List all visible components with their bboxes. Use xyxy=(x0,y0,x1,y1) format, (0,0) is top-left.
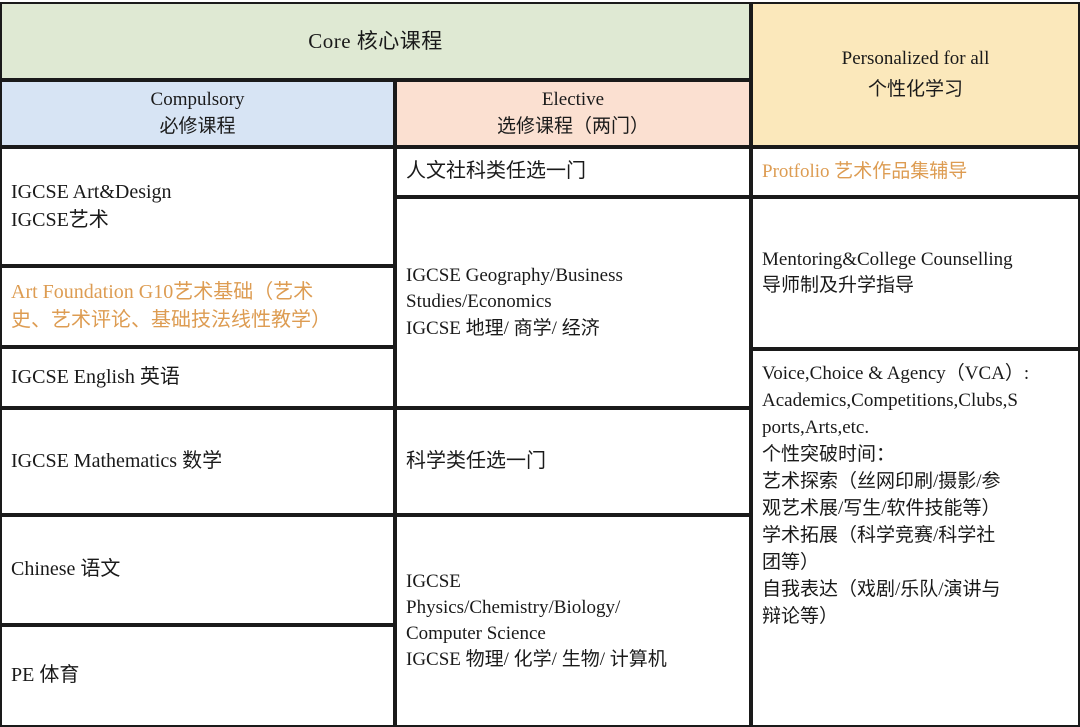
compulsory-cell-6: PE 体育 xyxy=(0,625,395,727)
compulsory-cell-1-line-2: IGCSE艺术 xyxy=(11,207,384,235)
header-core-group-label: Core 核心课程 xyxy=(308,27,443,56)
elective-cell-4-line-1: IGCSE xyxy=(406,569,740,595)
personalized-cell-3-line-7: 学术拓展（科学竞赛/科学社 xyxy=(762,523,1069,550)
compulsory-cell-4: IGCSE Mathematics 数学 xyxy=(0,408,395,515)
personalized-cell-3-line-6: 观艺术展/写生/软件技能等） xyxy=(762,496,1069,523)
compulsory-cell-5-line-1: Chinese 语文 xyxy=(11,556,384,584)
elective-cell-3: 科学类任选一门 xyxy=(395,408,751,515)
elective-cell-2: IGCSE Geography/Business Studies/Economi… xyxy=(395,197,751,408)
compulsory-cell-5: Chinese 语文 xyxy=(0,515,395,625)
personalized-cell-3-line-1: Voice,Choice & Agency（VCA）: xyxy=(762,361,1069,388)
elective-cell-2-line-3: IGCSE 地理/ 商学/ 经济 xyxy=(406,316,740,342)
header-compulsory: Compulsory 必修课程 xyxy=(0,80,395,147)
personalized-cell-1: Protfolio 艺术作品集辅导 xyxy=(751,147,1080,197)
elective-cell-3-line-1: 科学类任选一门 xyxy=(406,448,740,476)
elective-cell-1: 人文社科类任选一门 xyxy=(395,147,751,197)
compulsory-cell-1-line-1: IGCSE Art&Design xyxy=(11,179,384,207)
header-personalized-label-en: Personalized for all xyxy=(842,46,990,72)
curriculum-table: Core 核心课程 Compulsory 必修课程 Elective 选修课程（… xyxy=(0,0,1080,727)
personalized-cell-2-line-2: 导师制及升学指导 xyxy=(762,273,1069,299)
header-personalized-label-zh: 个性化学习 xyxy=(868,77,963,103)
header-elective-label-en: Elective xyxy=(542,87,604,113)
compulsory-cell-2-line-2: 史、艺术评论、基础技法线性教学） xyxy=(11,307,384,335)
compulsory-cell-3: IGCSE English 英语 xyxy=(0,347,395,408)
personalized-cell-3: Voice,Choice & Agency（VCA）: Academics,Co… xyxy=(751,349,1080,727)
elective-cell-4-line-3: Computer Science xyxy=(406,621,740,647)
personalized-cell-3-line-3: ports,Arts,etc. xyxy=(762,415,1069,442)
personalized-cell-1-line-1: Protfolio 艺术作品集辅导 xyxy=(762,159,1069,185)
compulsory-cell-2: Art Foundation G10艺术基础（艺术 史、艺术评论、基础技法线性教… xyxy=(0,266,395,347)
personalized-cell-3-line-5: 艺术探索（丝网印刷/摄影/参 xyxy=(762,469,1069,496)
elective-cell-4-line-2: Physics/Chemistry/Biology/ xyxy=(406,595,740,621)
compulsory-cell-1: IGCSE Art&Design IGCSE艺术 xyxy=(0,147,395,266)
personalized-cell-3-line-4: 个性突破时间： xyxy=(762,442,1069,469)
header-personalized: Personalized for all 个性化学习 xyxy=(751,2,1080,147)
compulsory-cell-3-line-1: IGCSE English 英语 xyxy=(11,364,384,392)
elective-cell-4: IGCSE Physics/Chemistry/Biology/ Compute… xyxy=(395,515,751,727)
compulsory-cell-2-line-1: Art Foundation G10艺术基础（艺术 xyxy=(11,279,384,307)
personalized-cell-2-line-1: Mentoring&College Counselling xyxy=(762,247,1069,273)
personalized-cell-3-line-10: 辩论等） xyxy=(762,604,1069,631)
elective-cell-4-line-4: IGCSE 物理/ 化学/ 生物/ 计算机 xyxy=(406,647,740,673)
personalized-cell-3-line-8: 团等） xyxy=(762,550,1069,577)
compulsory-cell-6-line-1: PE 体育 xyxy=(11,662,384,690)
header-elective: Elective 选修课程（两门） xyxy=(395,80,751,147)
header-compulsory-label-zh: 必修课程 xyxy=(159,114,235,140)
header-core-group: Core 核心课程 xyxy=(0,2,751,80)
compulsory-cell-4-line-1: IGCSE Mathematics 数学 xyxy=(11,448,384,476)
personalized-cell-2: Mentoring&College Counselling 导师制及升学指导 xyxy=(751,197,1080,349)
elective-cell-1-line-1: 人文社科类任选一门 xyxy=(406,158,740,186)
elective-cell-2-line-2: Studies/Economics xyxy=(406,289,740,315)
elective-cell-2-line-1: IGCSE Geography/Business xyxy=(406,263,740,289)
personalized-cell-3-line-2: Academics,Competitions,Clubs,S xyxy=(762,388,1069,415)
header-elective-label-zh: 选修课程（两门） xyxy=(497,114,649,140)
header-compulsory-label-en: Compulsory xyxy=(151,87,245,113)
personalized-cell-3-line-9: 自我表达（戏剧/乐队/演讲与 xyxy=(762,577,1069,604)
